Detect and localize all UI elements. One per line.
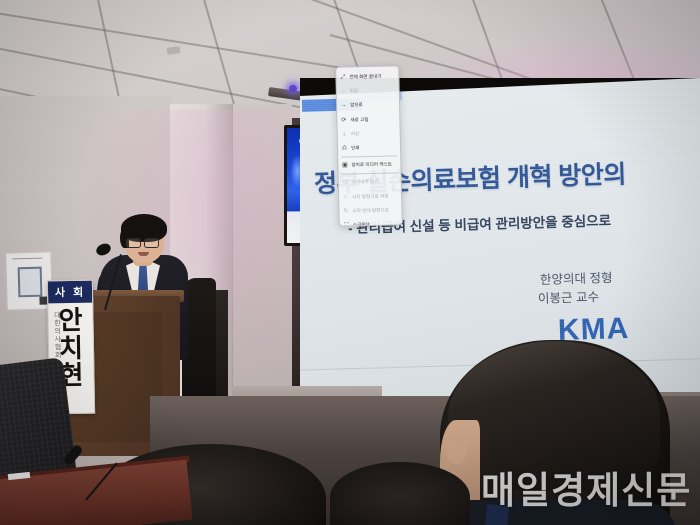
newspaper-watermark: 매일경제신문: [481, 460, 691, 514]
context-menu-item-label: 뒤로: [350, 89, 359, 95]
speaker-glasses-left: [126, 238, 141, 248]
forward-arrow-icon: →: [340, 102, 347, 109]
context-menu-item: ↻시작 반대 방향으로: [339, 203, 401, 219]
nameplate-name-char-1: 안: [58, 307, 82, 335]
context-menu-item[interactable]: ▣장치로 미디어 캐스트: [338, 157, 400, 173]
context-menu-item[interactable]: ⎙인쇄: [338, 140, 400, 156]
context-menu-item-label: 인쇄: [351, 145, 360, 151]
context-menu-item[interactable]: ⛶스크린샷: [340, 217, 402, 227]
slide-presenter-name: 이봉근 교수: [538, 286, 600, 307]
context-menu-item-label: 시작 반대 방향으로: [352, 207, 389, 214]
browser-context-menu[interactable]: ⤢전체 화면 끝내기←뒤로→앞으로⟳새로 고침⤓저장⎙인쇄▣장치로 미디어 캐스…: [335, 65, 403, 226]
context-menu-item-label: 장치로 미디어 캐스트: [351, 162, 392, 169]
context-menu-item-label: 전체 화면 끝내기: [349, 74, 381, 81]
context-menu-item: ⤓저장: [338, 126, 400, 142]
context-menu-item: ☆시작 방향기로 저장: [339, 189, 401, 205]
context-menu-item: ◁소리내어 읽기: [339, 175, 401, 191]
context-menu-item-label: 스크린샷: [353, 222, 370, 227]
projector-indicator-light: [289, 85, 297, 92]
speaker-glasses-right: [144, 238, 159, 248]
print-icon: ⎙: [341, 145, 348, 152]
ceiling-vent: [167, 46, 181, 55]
nameplate-role-char-1: 사: [55, 284, 67, 300]
read-aloud-icon: ◁: [342, 179, 349, 186]
audience-member-ear: [447, 434, 467, 464]
context-menu-item: ←뒤로: [337, 84, 399, 100]
context-menu-item-label: 저장: [351, 131, 360, 137]
cast-icon: ▣: [341, 162, 348, 169]
slide-presenter-affiliation: 한양의대 정형: [540, 267, 613, 288]
nameplate-role-char-2: 회: [73, 284, 85, 300]
refresh-icon: ⟳: [340, 117, 347, 124]
nameplate-role: 사 회: [48, 281, 92, 304]
fullscreen-exit-icon: ⤢: [339, 74, 346, 81]
audience-member-mid: [330, 462, 470, 525]
context-menu-item[interactable]: →앞으로: [337, 98, 399, 114]
bookmark-icon: ☆: [342, 194, 349, 201]
context-menu-item-label: 새로 고침: [350, 117, 368, 123]
context-menu-item[interactable]: ⟳새로 고침: [337, 112, 399, 128]
rotate-icon: ↻: [342, 208, 349, 215]
context-menu-item-label: 소리내어 읽기: [352, 179, 379, 186]
context-menu-item-label: 시작 방향기로 저장: [352, 193, 389, 200]
speaker-glasses-bridge: [139, 241, 144, 242]
wall-right: [232, 104, 292, 404]
save-icon: ⤓: [341, 131, 348, 138]
conference-photo: 정부 실손의료보험 개혁 방안의 - 관리급여 신설 등 비급여 관리방안을 중…: [0, 0, 700, 525]
context-menu-item[interactable]: ⤢전체 화면 끝내기: [336, 69, 398, 85]
context-menu-item-label: 앞으로: [350, 103, 363, 109]
screenshot-icon: ⛶: [343, 222, 350, 227]
wall-poster: [5, 251, 53, 310]
back-arrow-icon: ←: [340, 88, 347, 95]
